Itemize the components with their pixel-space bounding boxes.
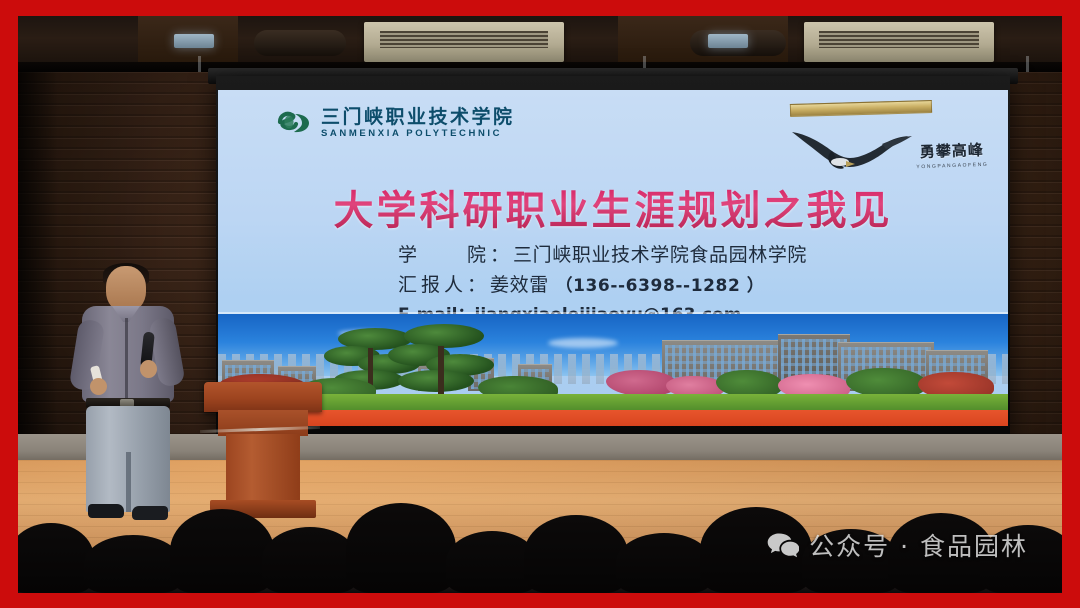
wechat-icon	[767, 532, 799, 559]
presentation-slide: 三门峡职业技术学院 SANMENXIA POLYTECHNIC 勇攀高峰 YON…	[218, 90, 1008, 426]
presenter-phone: （136--6398--1282 ）	[555, 276, 764, 296]
info-line-college: 学 院：三门峡职业技术学院食品园林学院	[398, 240, 958, 267]
air-conditioner-unit	[804, 22, 994, 62]
school-logo: 三门峡职业技术学院 SANMENXIA POLYTECHNIC	[276, 108, 515, 139]
presenter-name: 姜效雷	[490, 274, 549, 296]
audience-head	[346, 503, 456, 593]
frame-top-border	[0, 0, 1080, 16]
ac-grille-icon	[819, 31, 979, 48]
presenter-right-hand	[140, 360, 157, 378]
air-conditioner-unit	[364, 22, 564, 62]
college-value: 三门峡职业技术学院食品园林学院	[513, 244, 807, 266]
logo-text-block: 三门峡职业技术学院 SANMENXIA POLYTECHNIC	[321, 108, 515, 139]
presenter-shirt-placket	[125, 318, 128, 398]
ceiling-duct	[254, 30, 346, 56]
sanmenxia-polytechnic-logo-icon	[276, 109, 312, 137]
podium-top	[204, 382, 322, 412]
ceiling-light	[708, 34, 748, 48]
logo-cn-name: 三门峡职业技术学院	[321, 108, 515, 127]
college-label: 学 院：	[398, 244, 513, 266]
photo-container: 三门峡职业技术学院 SANMENXIA POLYTECHNIC 勇攀高峰 YON…	[0, 0, 1080, 608]
podium-neck	[218, 410, 308, 436]
frame-bottom-border	[0, 593, 1080, 608]
logo-en-name: SANMENXIA POLYTECHNIC	[321, 129, 515, 139]
audience-head	[84, 535, 182, 593]
calligraphy-main-text: 勇攀高峰	[908, 138, 997, 162]
lecture-hall-photo: 三门峡职业技术学院 SANMENXIA POLYTECHNIC 勇攀高峰 YON…	[18, 16, 1062, 593]
wechat-watermark: 公众号 · 食品园林	[767, 527, 1028, 563]
slide-bottom-band	[218, 410, 1008, 426]
ceiling-light	[174, 34, 214, 48]
presenter-left-hand	[90, 378, 107, 395]
calligraphy-block: 勇攀高峰 YONGPANGAOFENG	[908, 138, 997, 170]
slide-title: 大学科研职业生涯规划之我见	[218, 178, 1008, 236]
cloud	[548, 338, 618, 348]
audience-head	[170, 509, 274, 593]
campus-photo-strip	[218, 312, 1008, 426]
info-line-presenter: 汇报人：姜效雷 （136--6398--1282 ）	[398, 270, 958, 297]
calligraphy-sub-text: YONGPANGAOFENG	[908, 161, 996, 170]
gold-decor-bar	[790, 100, 932, 117]
audience-head	[262, 527, 358, 593]
ac-grille-icon	[380, 31, 548, 48]
wall-vignette	[18, 72, 58, 492]
watermark-text: 公众号 · 食品园林	[809, 527, 1028, 563]
flying-eagle-icon	[786, 118, 918, 184]
audience-head	[524, 515, 628, 593]
frame-left-border	[0, 0, 18, 608]
frame-right-border	[1062, 0, 1080, 608]
audience-head	[616, 533, 712, 593]
presenter-label: 汇报人：	[398, 274, 490, 296]
audience-head	[18, 523, 94, 593]
